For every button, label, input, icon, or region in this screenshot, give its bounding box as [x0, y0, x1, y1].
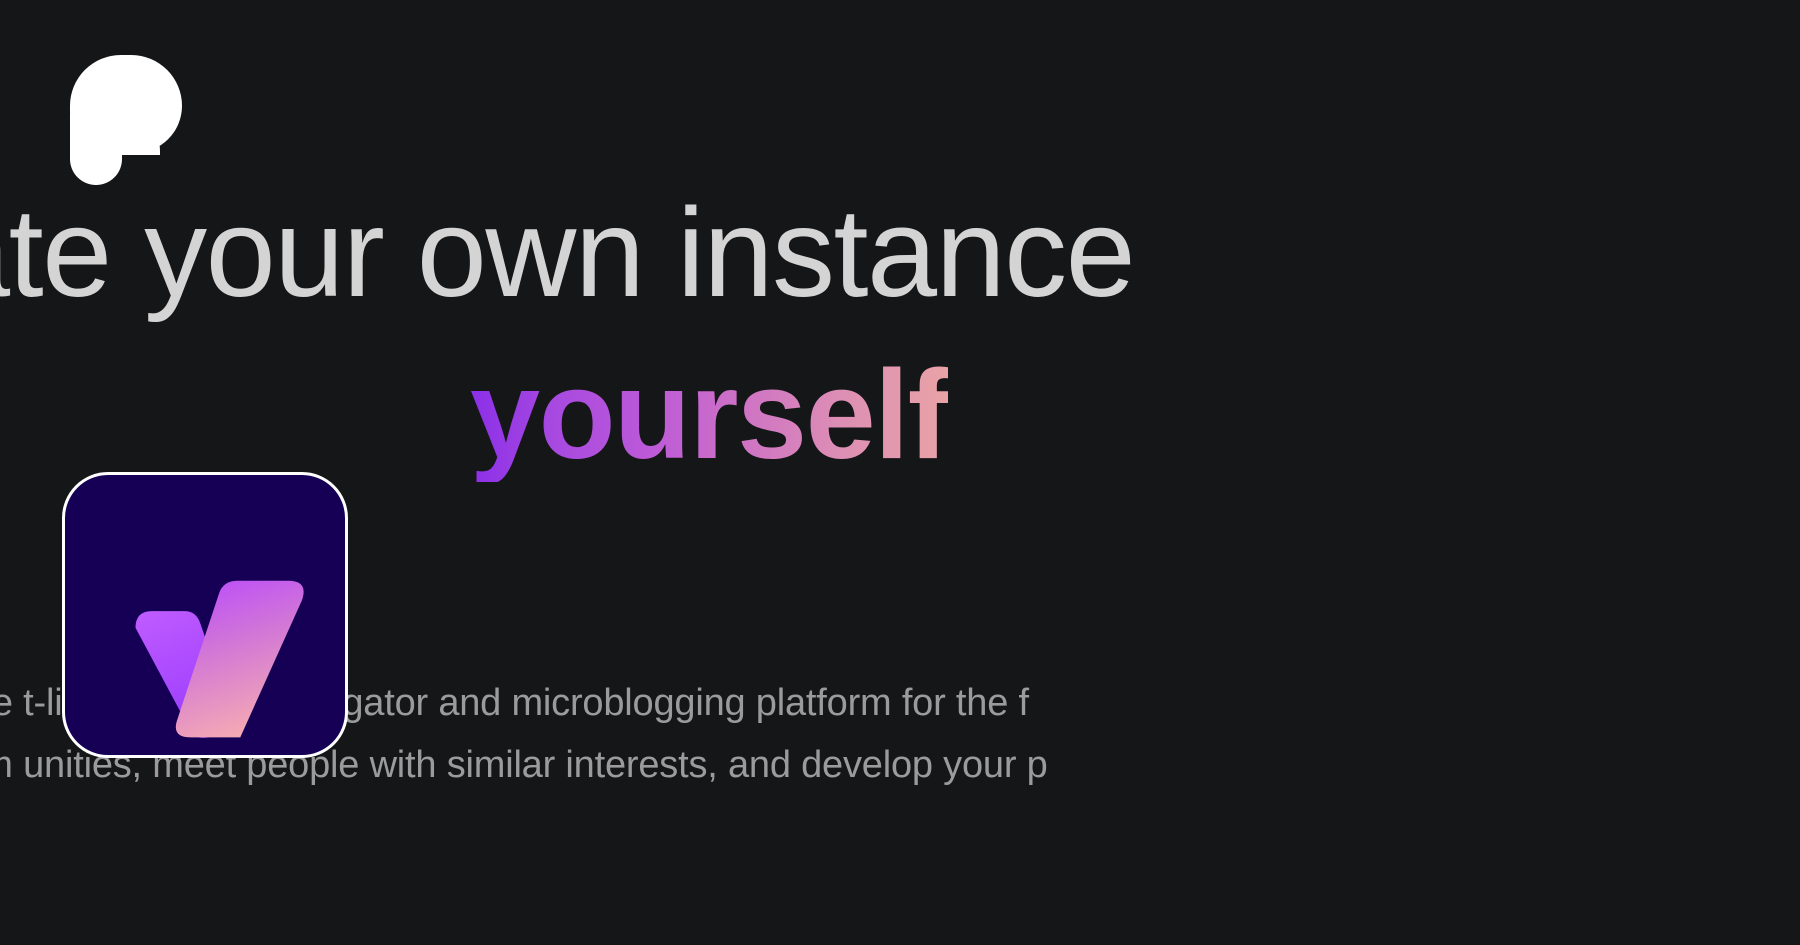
patreon-blob-logo-icon[interactable]	[70, 55, 182, 185]
hero-section: ate your own instance yourself ope t-lik…	[0, 0, 1800, 945]
vger-app-icon[interactable]	[62, 472, 348, 758]
checkmark-v-icon	[65, 475, 345, 755]
logo-head	[70, 55, 182, 153]
page-title-accent: yourself	[470, 348, 948, 482]
page-title: ate your own instance	[0, 186, 1800, 320]
